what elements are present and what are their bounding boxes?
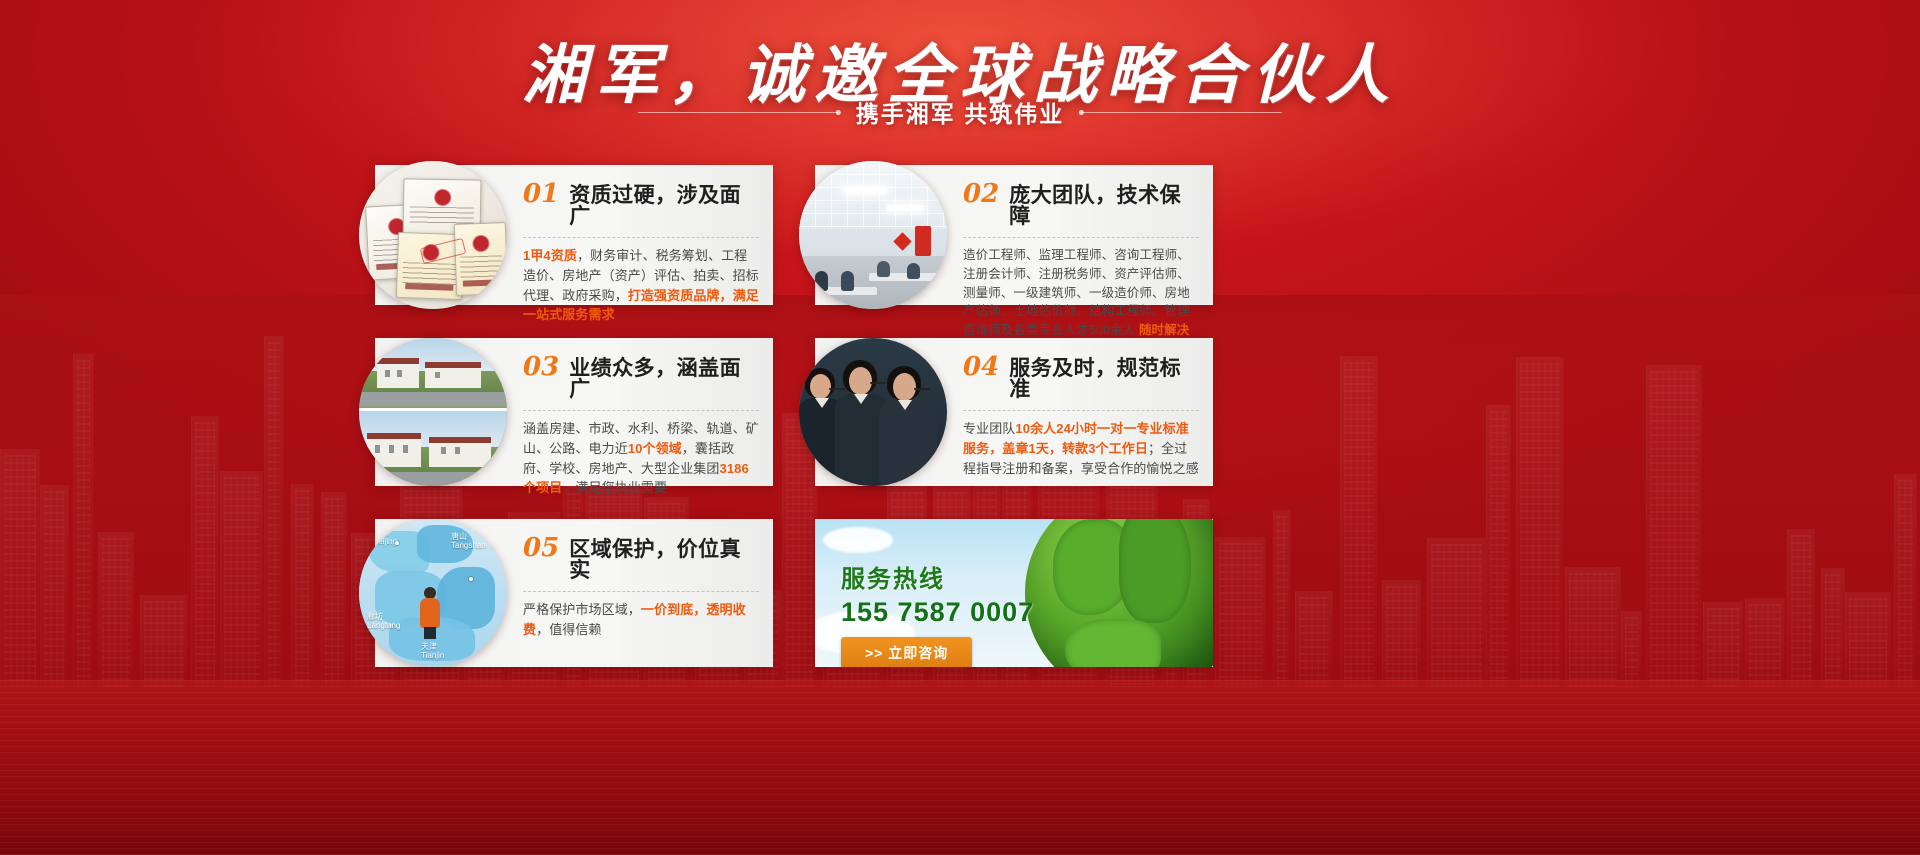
building-silhouette — [1621, 611, 1642, 687]
feature-card-01[interactable]: 01 资质过硬，涉及面广 1甲4资质，财务审计、税务筹划、工程造价、房地产（资产… — [375, 165, 773, 305]
feature-card-04[interactable]: 04 服务及时，规范标准 专业团队10余人24小时一对一专业标准服务，盖章1天，… — [815, 338, 1213, 486]
feature-card-03[interactable]: 03 业绩众多，涵盖面广 涵盖房建、市政、水利、桥梁、轨道、矿山、公路、电力近1… — [375, 338, 773, 486]
building-silhouette — [40, 485, 69, 687]
projects-photo — [359, 338, 507, 486]
card-number: 03 — [523, 354, 559, 380]
feature-card-05[interactable]: 北京Beijing 唐山Tangshan 廊坊Langfang 天津Tianji… — [375, 519, 773, 667]
map-label-tangshan: 唐山Tangshan — [451, 533, 486, 551]
card-title: 业绩众多，涵盖面广 — [569, 358, 759, 400]
page-stage: 湘军，诚邀全球战略合伙人 携手湘军 共筑伟业 — [0, 0, 1920, 855]
card-title: 区域保护，价位真实 — [569, 539, 759, 581]
person-figure-icon — [419, 587, 441, 639]
hotline-banner[interactable]: 服务热线 155 7587 0007 >> 立即咨询 — [815, 519, 1213, 667]
map-label-langfang: 廊坊Langfang — [367, 613, 400, 631]
building-silhouette — [1646, 365, 1702, 687]
card-body: 涵盖房建、市政、水利、桥梁、轨道、矿山、公路、电力近10个领域，囊括政府、学校、… — [523, 419, 759, 498]
water-reflection — [0, 680, 1920, 855]
consult-now-button[interactable]: >> 立即咨询 — [841, 637, 972, 667]
subtitle-line-left — [638, 112, 838, 113]
building-silhouette — [191, 416, 219, 687]
card-title: 服务及时，规范标准 — [1009, 358, 1199, 400]
hotline-number: 155 7587 0007 — [841, 597, 1034, 628]
card-heading: 04 服务及时，规范标准 — [963, 350, 1199, 400]
card-number: 01 — [523, 181, 559, 207]
card-body: 严格保护市场区域，一价到底，透明收费，值得信赖 — [523, 600, 759, 640]
card-heading: 03 业绩众多，涵盖面广 — [523, 350, 759, 400]
card-divider — [523, 410, 759, 411]
cards-row-3: 北京Beijing 唐山Tangshan 廊坊Langfang 天津Tianji… — [375, 519, 1550, 667]
building-silhouette — [1894, 474, 1917, 687]
building-silhouette — [98, 532, 134, 687]
building-silhouette — [1821, 568, 1845, 687]
card-heading: 02 庞大团队，技术保障 — [963, 177, 1199, 227]
building-silhouette — [1845, 592, 1891, 687]
map-dot-icon — [395, 541, 399, 545]
building-silhouette — [220, 471, 263, 687]
map-label-tianjin: 天津Tianjin — [421, 643, 444, 661]
cards-row-2: 03 业绩众多，涵盖面广 涵盖房建、市政、水利、桥梁、轨道、矿山、公路、电力近1… — [375, 338, 1550, 486]
certificates-photo — [359, 161, 507, 309]
subtitle-line-right — [1082, 112, 1282, 113]
card-number: 05 — [523, 535, 559, 561]
map-dot-icon — [469, 577, 473, 581]
card-divider — [963, 237, 1199, 238]
building-silhouette — [1703, 602, 1743, 687]
cards-row-1: 01 资质过硬，涉及面广 1甲4资质，财务审计、税务筹划、工程造价、房地产（资产… — [375, 165, 1550, 305]
service-team-photo — [799, 338, 947, 486]
building-silhouette — [140, 595, 188, 687]
card-divider — [523, 591, 759, 592]
subtitle-row: 携手湘军 共筑伟业 — [638, 95, 1282, 129]
card-title: 资质过硬，涉及面广 — [569, 185, 759, 227]
feature-card-02[interactable]: 02 庞大团队，技术保障 造价工程师、监理工程师、咨询工程师、注册会计师、注册税… — [815, 165, 1213, 305]
card-divider — [963, 410, 1199, 411]
china-map-photo: 北京Beijing 唐山Tangshan 廊坊Langfang 天津Tianji… — [359, 519, 507, 667]
building-silhouette — [291, 484, 314, 687]
card-title: 庞大团队，技术保障 — [1009, 185, 1199, 227]
card-body: 专业团队10余人24小时一对一专业标准服务，盖章1天，转款3个工作日；全过程指导… — [963, 419, 1199, 478]
building-silhouette — [0, 449, 40, 687]
card-heading: 01 资质过硬，涉及面广 — [523, 177, 759, 227]
page-header: 湘军，诚邀全球战略合伙人 携手湘军 共筑伟业 — [0, 0, 1920, 150]
building-silhouette — [264, 336, 284, 687]
building-silhouette — [1745, 598, 1785, 687]
card-heading: 05 区域保护，价位真实 — [523, 531, 759, 581]
card-divider — [523, 237, 759, 238]
building-silhouette — [1565, 567, 1621, 687]
building-silhouette — [1787, 529, 1815, 687]
card-body: 1甲4资质，财务审计、税务筹划、工程造价、房地产（资产）评估、拍卖、招标代理、政… — [523, 246, 759, 325]
feature-cards-grid: 01 资质过硬，涉及面广 1甲4资质，财务审计、税务筹划、工程造价、房地产（资产… — [375, 165, 1550, 700]
card-number: 02 — [963, 181, 999, 207]
office-photo — [799, 161, 947, 309]
card-number: 04 — [963, 354, 999, 380]
building-silhouette — [321, 492, 347, 687]
map-label-beijing: 北京Beijing — [373, 529, 397, 547]
hotline-title: 服务热线 — [841, 559, 1034, 594]
green-globe-photo — [1025, 519, 1213, 667]
building-silhouette — [73, 354, 94, 687]
page-subtitle: 携手湘军 共筑伟业 — [856, 95, 1064, 129]
